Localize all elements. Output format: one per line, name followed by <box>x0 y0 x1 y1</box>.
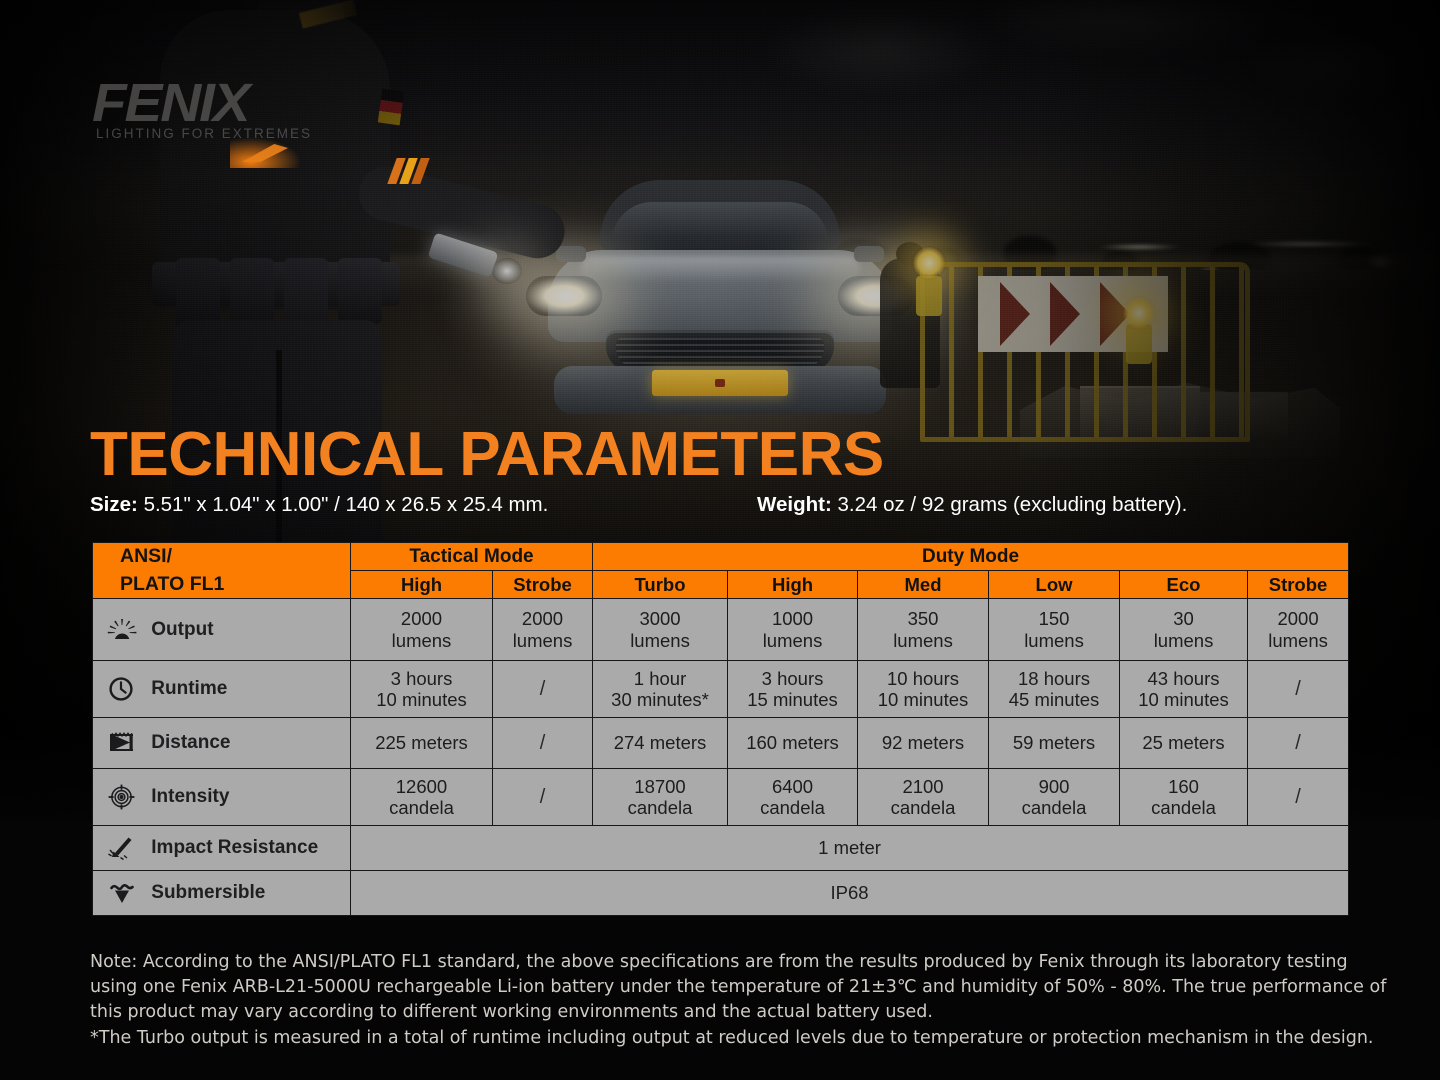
row-label-submersible-text: Submersible <box>151 882 265 904</box>
mode-header-duty-high: High <box>728 571 858 599</box>
weight-label: Weight: <box>757 493 832 516</box>
cell-output-duty-turbo: 3000lumens <box>593 599 728 661</box>
mode-header-duty-med: Med <box>858 571 989 599</box>
warning-lamp-light <box>1122 296 1156 330</box>
cell-intensity-duty-med: 2100candela <box>858 769 989 826</box>
row-label-output-text: Output <box>151 619 213 641</box>
weight-spec: Weight: 3.24 oz / 92 grams (excluding ba… <box>757 493 1187 517</box>
clouds <box>700 0 1440 150</box>
row-label-runtime-text: Runtime <box>151 678 227 700</box>
mode-header-tactical-high: High <box>351 571 493 599</box>
cell-distance-duty-strobe: / <box>1248 718 1349 769</box>
cell-output-duty-strobe: 2000lumens <box>1248 599 1349 661</box>
cell-output-duty-med: 350lumens <box>858 599 989 661</box>
car-headlight-left <box>526 276 602 316</box>
technical-parameters-table: ANSI/ PLATO FL1 Tactical Mode Duty Mode … <box>92 542 1349 916</box>
mode-header-duty-low: Low <box>989 571 1120 599</box>
car-mirror-right <box>854 246 884 262</box>
cell-runtime-duty-med: 10 hours10 minutes <box>858 661 989 718</box>
silver-car <box>520 180 920 430</box>
table-header-group-row: ANSI/ PLATO FL1 Tactical Mode Duty Mode <box>93 543 1349 571</box>
mode-header-tactical-strobe: Strobe <box>493 571 593 599</box>
target-intensity-icon <box>107 784 137 810</box>
cell-intensity-duty-high: 6400candela <box>728 769 858 826</box>
size-spec: Size: 5.51" x 1.04" x 1.00" / 140 x 26.5… <box>90 493 548 517</box>
fenix-logo[interactable]: FENIX LIGHTING FOR EXTREMES <box>92 72 392 144</box>
table-row-submersible: Submersible IP68 <box>93 871 1349 916</box>
cell-distance-duty-eco: 25 meters <box>1120 718 1248 769</box>
cell-intensity-tactical-high: 12600candela <box>351 769 493 826</box>
cell-distance-tactical-strobe: / <box>493 718 593 769</box>
table-row-output: Output 2000lumens 2000lumens 3000lumens … <box>93 599 1349 661</box>
flashlight-beam <box>492 258 522 284</box>
cell-intensity-duty-eco: 160candela <box>1120 769 1248 826</box>
ansi-line-2: PLATO FL1 <box>120 573 224 595</box>
car-license-plate <box>652 370 788 396</box>
weight-value: 3.24 oz / 92 grams (excluding battery). <box>837 493 1187 516</box>
logo-tagline: LIGHTING FOR EXTREMES <box>96 126 312 141</box>
table-row-impact-resistance: Impact Resistance 1 meter <box>93 826 1349 871</box>
cell-output-duty-low: 150lumens <box>989 599 1120 661</box>
clock-icon <box>107 676 137 702</box>
row-label-distance: Distance <box>93 718 351 769</box>
table-row-runtime: Runtime 3 hours10 minutes / 1 hour30 min… <box>93 661 1349 718</box>
cell-submersible-value: IP68 <box>351 871 1349 916</box>
chevron-icon <box>1050 282 1080 346</box>
logo-wordmark: FENIX <box>92 72 248 134</box>
cell-runtime-tactical-high: 3 hours10 minutes <box>351 661 493 718</box>
group-header-duty-mode: Duty Mode <box>593 543 1349 571</box>
footnote-line-3: this product may vary according to diffe… <box>90 1000 1360 1025</box>
cell-intensity-tactical-strobe: / <box>493 769 593 826</box>
car-grille-bars <box>616 338 824 368</box>
mode-header-duty-strobe: Strobe <box>1248 571 1349 599</box>
row-label-impact-resistance-text: Impact Resistance <box>151 837 318 859</box>
size-label: Size: <box>90 493 138 516</box>
row-label-intensity-text: Intensity <box>151 786 229 808</box>
car-mirror-left <box>556 246 586 262</box>
cell-runtime-duty-eco: 43 hours10 minutes <box>1120 661 1248 718</box>
table-row-distance: Distance 225 meters / 274 meters 160 met… <box>93 718 1349 769</box>
cell-intensity-duty-low: 900candela <box>989 769 1120 826</box>
mode-header-duty-eco: Eco <box>1120 571 1248 599</box>
beam-distance-icon <box>107 730 137 756</box>
ansi-plato-corner-cell: ANSI/ PLATO FL1 <box>93 543 351 599</box>
row-label-runtime: Runtime <box>93 661 351 718</box>
size-value: 5.51" x 1.04" x 1.00" / 140 x 26.5 x 25.… <box>144 493 549 516</box>
footnote-line-1: Note: According to the ANSI/PLATO FL1 st… <box>90 950 1360 975</box>
warning-lamp-body <box>916 276 942 316</box>
cell-output-duty-high: 1000lumens <box>728 599 858 661</box>
cell-distance-duty-turbo: 274 meters <box>593 718 728 769</box>
cell-runtime-duty-high: 3 hours15 minutes <box>728 661 858 718</box>
waterdrop-icon <box>107 880 137 906</box>
cell-output-tactical-high: 2000lumens <box>351 599 493 661</box>
cell-intensity-duty-strobe: / <box>1248 769 1349 826</box>
cell-output-duty-eco: 30lumens <box>1120 599 1248 661</box>
ansi-line-1: ANSI/ <box>120 545 172 567</box>
sunburst-icon <box>107 617 137 643</box>
warning-lamp-body <box>1126 324 1152 364</box>
row-label-output: Output <box>93 599 351 661</box>
cell-impact-resistance-value: 1 meter <box>351 826 1349 871</box>
footnote-line-4: *The Turbo output is measured in a total… <box>90 1026 1360 1051</box>
group-header-tactical-mode: Tactical Mode <box>351 543 593 571</box>
row-label-submersible: Submersible <box>93 871 351 916</box>
footnote-block: Note: According to the ANSI/PLATO FL1 st… <box>90 950 1360 1051</box>
cell-distance-duty-med: 92 meters <box>858 718 989 769</box>
officer-pouch <box>338 258 382 324</box>
chevron-icon <box>1000 282 1030 346</box>
cell-intensity-duty-turbo: 18700candela <box>593 769 728 826</box>
car-hood-reflection <box>580 256 860 282</box>
page-title: TECHNICAL PARAMETERS <box>90 424 884 486</box>
mode-header-duty-turbo: Turbo <box>593 571 728 599</box>
row-label-impact-resistance: Impact Resistance <box>93 826 351 871</box>
cell-runtime-duty-low: 18 hours45 minutes <box>989 661 1120 718</box>
footnote-line-2: using one Fenix ARB-L21-5000U rechargeab… <box>90 975 1360 1000</box>
cell-output-tactical-strobe: 2000lumens <box>493 599 593 661</box>
cell-distance-tactical-high: 225 meters <box>351 718 493 769</box>
warning-lamp-light <box>912 246 946 280</box>
background-photo-night-roadside-scene <box>0 0 1440 1080</box>
impact-icon <box>107 835 137 861</box>
road-barricade <box>920 262 1250 442</box>
cell-runtime-tactical-strobe: / <box>493 661 593 718</box>
row-label-distance-text: Distance <box>151 732 230 754</box>
cell-runtime-duty-turbo: 1 hour30 minutes* <box>593 661 728 718</box>
row-label-intensity: Intensity <box>93 769 351 826</box>
table-row-intensity: Intensity 12600candela / 18700candela 64… <box>93 769 1349 826</box>
spec-summary-line: Size: 5.51" x 1.04" x 1.00" / 140 x 26.5… <box>90 493 1350 521</box>
cell-distance-duty-low: 59 meters <box>989 718 1120 769</box>
cell-distance-duty-high: 160 meters <box>728 718 858 769</box>
cell-runtime-duty-strobe: / <box>1248 661 1349 718</box>
